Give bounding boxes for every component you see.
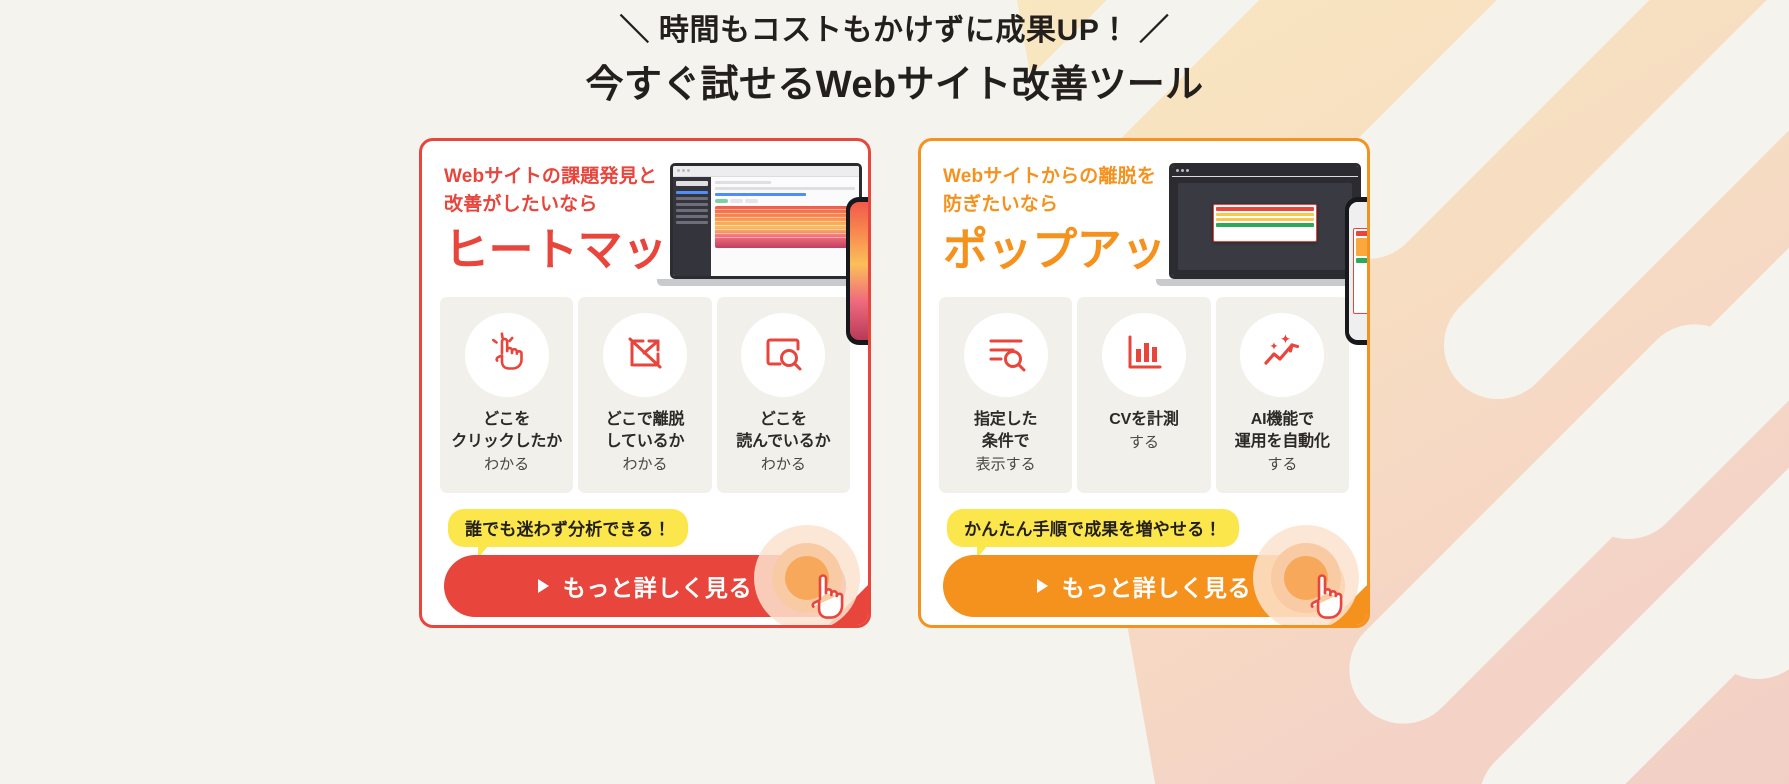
mock-browser-bar	[673, 166, 859, 177]
feature-line1: AI機能で	[1222, 409, 1343, 431]
feature-item-read: どこを 読んでいるか わかる	[717, 297, 850, 493]
device-mockup-group	[1169, 161, 1370, 321]
page-title: 今すぐ試せるWebサイト改善ツール	[0, 57, 1789, 114]
feature-item-click: どこを クリックしたか わかる	[440, 297, 573, 493]
product-card-heatmap[interactable]: Webサイトの課題発見と 改善がしたいなら ヒートマップ	[419, 138, 871, 628]
laptop-screen	[1169, 163, 1361, 279]
feature-line2: しているか	[584, 431, 705, 453]
cta-section: かんたん手順で成果を増やせる！ もっと詳しく見る	[921, 509, 1367, 617]
icon-badge	[603, 313, 687, 397]
cta-section: 誰でも迷わず分析できる！ もっと詳しく見る	[422, 509, 868, 617]
feature-line3: わかる	[584, 454, 705, 475]
feature-line3: する	[1222, 454, 1343, 475]
mock-main-panel	[711, 177, 859, 276]
device-mockup-group	[670, 161, 871, 321]
ai-sparkle-trend-icon	[1259, 329, 1305, 380]
laptop-screen	[670, 163, 862, 279]
feature-item-condition: 指定した 条件で 表示する	[939, 297, 1072, 493]
product-card-row: Webサイトの課題発見と 改善がしたいなら ヒートマップ	[0, 138, 1789, 628]
laptop-mockup	[1169, 163, 1361, 286]
cta-label: もっと詳しく見る	[563, 569, 753, 603]
product-card-popup[interactable]: Webサイトからの離脱を 防ぎたいなら ポップアップ	[918, 138, 1370, 628]
feature-line2: クリックしたか	[446, 431, 567, 453]
mock-popup-graphic	[1213, 204, 1317, 242]
feature-line1: どこで離脱	[584, 409, 705, 431]
feature-line1: 指定した	[945, 409, 1066, 431]
more-details-button[interactable]: もっと詳しく見る	[943, 555, 1345, 617]
laptop-mockup	[670, 163, 862, 286]
feature-line1: どこを	[723, 409, 844, 431]
feature-line2: 条件で	[945, 431, 1066, 453]
filter-search-icon	[983, 329, 1029, 380]
icon-badge	[741, 313, 825, 397]
feature-item-exit: どこで離脱 しているか わかる	[578, 297, 711, 493]
feature-line2: 運用を自動化	[1222, 431, 1343, 453]
phone-mockup	[846, 197, 871, 345]
read-search-icon	[760, 329, 806, 380]
mock-heatmap-graphic	[715, 206, 855, 248]
laptop-base	[657, 279, 871, 286]
card-header: Webサイトからの離脱を 防ぎたいなら ポップアップ	[921, 141, 1367, 291]
headline-sub: ＼ 時間もコストもかけずに成果UP！ ／	[0, 8, 1789, 55]
icon-badge	[964, 313, 1048, 397]
feature-line3: わかる	[446, 454, 567, 475]
cta-label: もっと詳しく見る	[1062, 569, 1252, 603]
status-badge: かんたん手順で成果を増やせる！	[947, 509, 1239, 547]
feature-item-cv: CVを計測 する	[1077, 297, 1210, 493]
feature-item-ai: AI機能で 運用を自動化 する	[1216, 297, 1349, 493]
feature-line2: 読んでいるか	[723, 431, 844, 453]
feature-list: 指定した 条件で 表示する CVを計測	[921, 297, 1367, 493]
phone-notch	[868, 202, 871, 208]
more-details-button[interactable]: もっと詳しく見る	[444, 555, 846, 617]
phone-screen	[850, 202, 871, 340]
feature-line3: 表示する	[945, 454, 1066, 475]
feature-line1: どこを	[446, 409, 567, 431]
feature-list: どこを クリックしたか わかる どこで離脱 しているか	[422, 297, 868, 493]
page-headline: ＼ 時間もコストもかけずに成果UP！ ／ 今すぐ試せるWebサイト改善ツール	[0, 0, 1789, 114]
mock-sidebar	[673, 177, 711, 276]
phone-notch	[1367, 202, 1370, 208]
exit-arrow-icon	[622, 329, 668, 380]
card-header: Webサイトの課題発見と 改善がしたいなら ヒートマップ	[422, 141, 868, 291]
icon-badge	[465, 313, 549, 397]
corner-accent	[828, 585, 868, 625]
feature-line3: する	[1083, 432, 1204, 453]
play-triangle-icon	[1037, 579, 1048, 593]
phone-mockup	[1345, 197, 1370, 345]
mock-browser-bar	[1172, 166, 1358, 177]
click-finger-icon	[484, 329, 530, 380]
phone-screen	[1349, 202, 1370, 340]
corner-accent	[1327, 585, 1367, 625]
icon-badge	[1102, 313, 1186, 397]
feature-line3: わかる	[723, 454, 844, 475]
bar-chart-icon	[1121, 329, 1167, 380]
play-triangle-icon	[538, 579, 549, 593]
feature-line1: CVを計測	[1083, 409, 1204, 431]
laptop-base	[1156, 279, 1370, 286]
status-badge: 誰でも迷わず分析できる！	[448, 509, 688, 547]
icon-badge	[1240, 313, 1324, 397]
